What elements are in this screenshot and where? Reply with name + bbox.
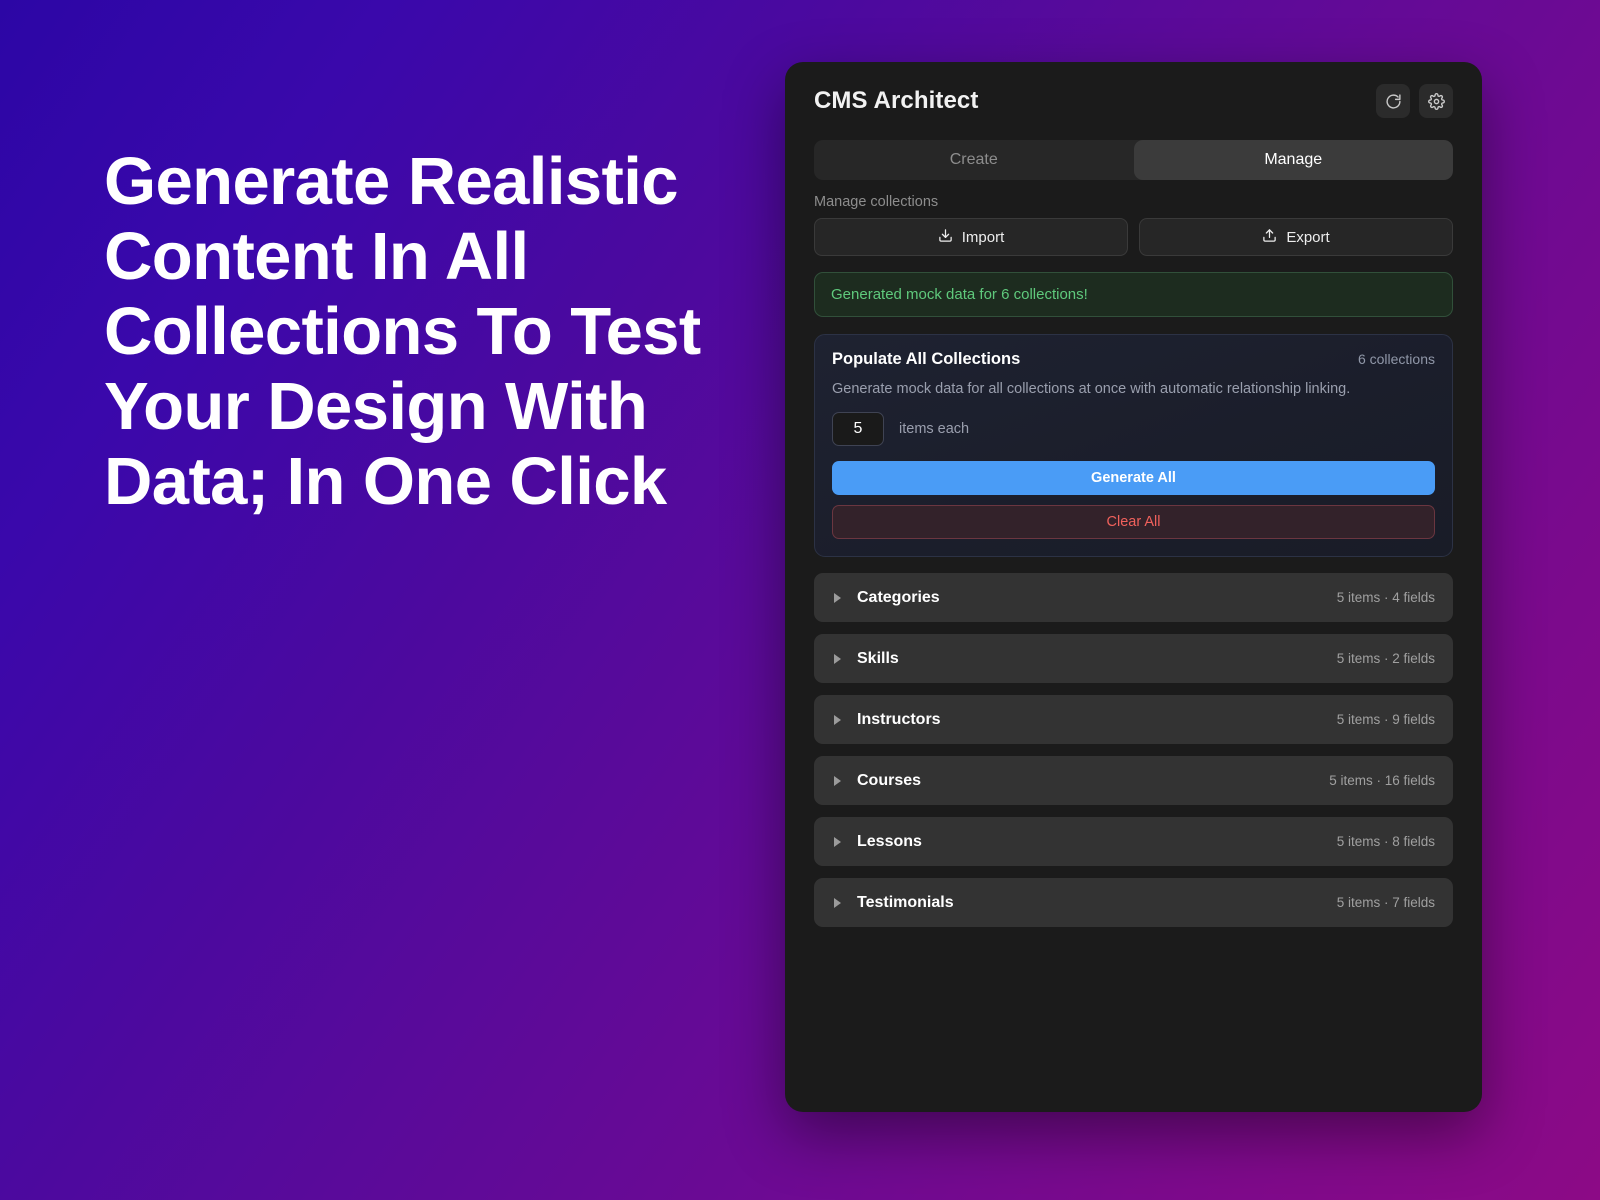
collection-row-lessons[interactable]: Lessons 5 items · 8 fields xyxy=(814,817,1453,866)
clear-all-button[interactable]: Clear All xyxy=(832,505,1435,539)
items-each-input[interactable] xyxy=(832,412,884,446)
collection-name: Courses xyxy=(857,772,1329,790)
collections-count-badge: 6 collections xyxy=(1358,351,1435,367)
collection-row-categories[interactable]: Categories 5 items · 4 fields xyxy=(814,573,1453,622)
collection-row-skills[interactable]: Skills 5 items · 2 fields xyxy=(814,634,1453,683)
import-label: Import xyxy=(962,229,1005,246)
generate-all-button[interactable]: Generate All xyxy=(832,461,1435,495)
page-title: Generate Realistic Content In All Collec… xyxy=(104,144,724,519)
items-each-label: items each xyxy=(899,421,969,437)
populate-all-card: Populate All Collections 6 collections G… xyxy=(814,334,1453,557)
populate-description: Generate mock data for all collections a… xyxy=(832,381,1435,397)
collection-meta: 5 items · 7 fields xyxy=(1337,895,1435,910)
chevron-right-icon[interactable] xyxy=(834,898,841,908)
header-actions xyxy=(1376,84,1453,118)
cms-architect-panel: CMS Architect Creat xyxy=(785,62,1482,1112)
gear-icon xyxy=(1428,93,1445,110)
app-title: CMS Architect xyxy=(814,87,978,115)
settings-button[interactable] xyxy=(1419,84,1453,118)
collection-name: Instructors xyxy=(857,711,1337,729)
chevron-right-icon[interactable] xyxy=(834,715,841,725)
collections-list: Categories 5 items · 4 fields Skills 5 i… xyxy=(814,573,1453,927)
import-button[interactable]: Import xyxy=(814,218,1128,256)
collection-meta: 5 items · 4 fields xyxy=(1337,590,1435,605)
collection-row-courses[interactable]: Courses 5 items · 16 fields xyxy=(814,756,1453,805)
status-banner: Generated mock data for 6 collections! xyxy=(814,272,1453,317)
mode-tabs: Create Manage xyxy=(814,140,1453,180)
upload-icon xyxy=(1262,228,1277,247)
collection-name: Testimonials xyxy=(857,894,1337,912)
collection-meta: 5 items · 2 fields xyxy=(1337,651,1435,666)
section-label: Manage collections xyxy=(814,194,1453,210)
collection-name: Categories xyxy=(857,589,1337,607)
collection-meta: 5 items · 16 fields xyxy=(1329,773,1435,788)
collection-meta: 5 items · 9 fields xyxy=(1337,712,1435,727)
panel-header: CMS Architect xyxy=(785,62,1482,130)
export-button[interactable]: Export xyxy=(1139,218,1453,256)
refresh-icon xyxy=(1385,93,1402,110)
populate-title: Populate All Collections xyxy=(832,350,1020,369)
collection-meta: 5 items · 8 fields xyxy=(1337,834,1435,849)
quantity-row: items each xyxy=(832,412,1435,446)
populate-card-header: Populate All Collections 6 collections xyxy=(832,350,1435,369)
refresh-button[interactable] xyxy=(1376,84,1410,118)
tab-create[interactable]: Create xyxy=(814,140,1134,180)
collection-name: Skills xyxy=(857,650,1337,668)
export-label: Export xyxy=(1286,229,1329,246)
chevron-right-icon[interactable] xyxy=(834,654,841,664)
collection-row-instructors[interactable]: Instructors 5 items · 9 fields xyxy=(814,695,1453,744)
download-icon xyxy=(938,228,953,247)
chevron-right-icon[interactable] xyxy=(834,593,841,603)
chevron-right-icon[interactable] xyxy=(834,776,841,786)
chevron-right-icon[interactable] xyxy=(834,837,841,847)
collection-name: Lessons xyxy=(857,833,1337,851)
collection-row-testimonials[interactable]: Testimonials 5 items · 7 fields xyxy=(814,878,1453,927)
import-export-row: Import Export xyxy=(814,218,1453,256)
tab-manage[interactable]: Manage xyxy=(1134,140,1454,180)
